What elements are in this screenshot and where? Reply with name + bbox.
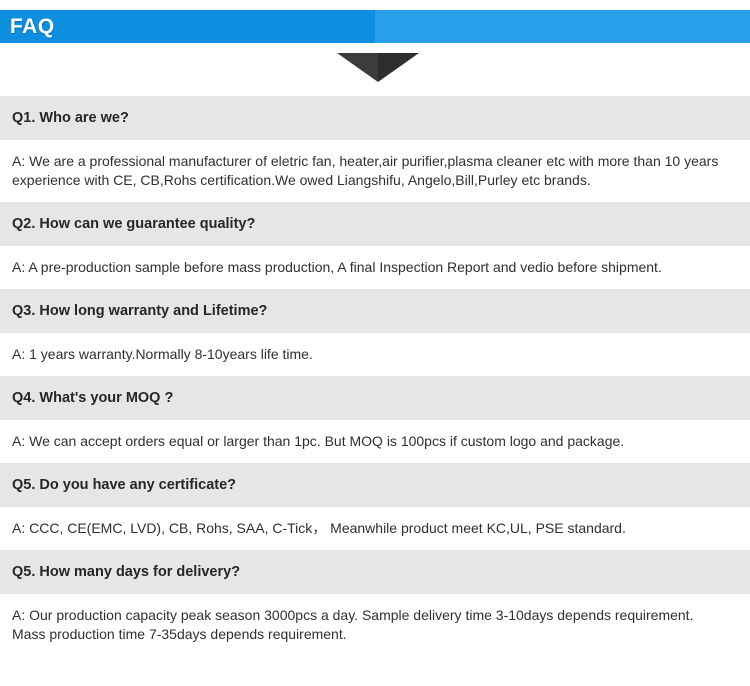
faq-answer: A: We are a professional manufacturer of… [0, 140, 750, 202]
faq-question[interactable]: Q1. Who are we? [0, 96, 750, 140]
faq-question[interactable]: Q3. How long warranty and Lifetime? [0, 289, 750, 333]
faq-question[interactable]: Q2. How can we guarantee quality? [0, 202, 750, 246]
faq-item: Q2. How can we guarantee quality? A: A p… [0, 202, 750, 289]
page-title: FAQ [0, 16, 55, 37]
faq-answer: A: CCC, CE(EMC, LVD), CB, Rohs, SAA, C-T… [0, 507, 750, 550]
down-arrow-left-half [337, 53, 378, 82]
faq-header-right-block [375, 10, 750, 43]
faq-item: Q4. What's your MOQ ? A: We can accept o… [0, 376, 750, 463]
faq-answer: A: 1 years warranty.Normally 8-10years l… [0, 333, 750, 376]
faq-list: Q1. Who are we? A: We are a professional… [0, 96, 750, 656]
faq-page: FAQ Q1. Who are we? A: We are a professi… [0, 10, 750, 686]
faq-header-banner: FAQ [0, 10, 750, 43]
faq-question[interactable]: Q5. Do you have any certificate? [0, 463, 750, 507]
faq-item: Q5. Do you have any certificate? A: CCC,… [0, 463, 750, 550]
faq-question[interactable]: Q5. How many days for delivery? [0, 550, 750, 594]
faq-item: Q3. How long warranty and Lifetime? A: 1… [0, 289, 750, 376]
faq-answer: A: A pre-production sample before mass p… [0, 246, 750, 289]
faq-answer: A: Our production capacity peak season 3… [0, 594, 750, 656]
faq-header-left-block: FAQ [0, 10, 375, 43]
faq-item: Q1. Who are we? A: We are a professional… [0, 96, 750, 202]
faq-answer: A: We can accept orders equal or larger … [0, 420, 750, 463]
faq-item: Q5. How many days for delivery? A: Our p… [0, 550, 750, 656]
faq-question[interactable]: Q4. What's your MOQ ? [0, 376, 750, 420]
down-arrow-icon [337, 53, 419, 82]
down-arrow-right-half [378, 53, 419, 82]
